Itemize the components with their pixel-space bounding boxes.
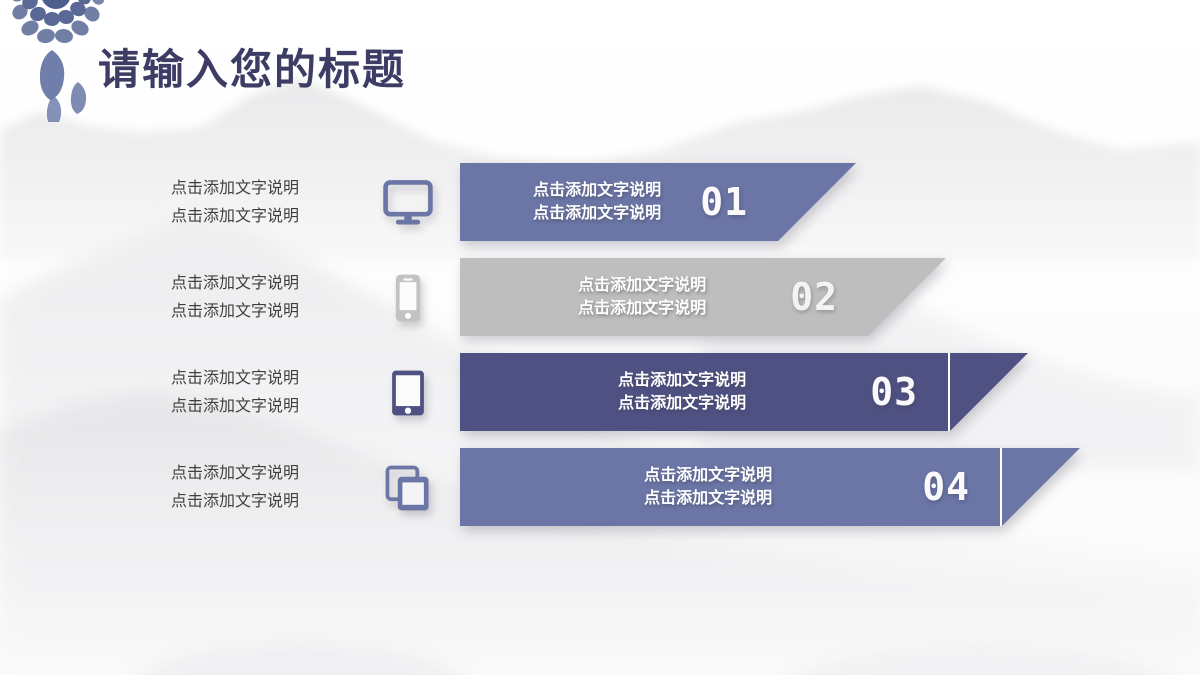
banner-line: 点击添加文字说明	[508, 202, 686, 225]
banner-tail-divider	[948, 353, 950, 431]
row-left-line: 点击添加文字说明	[120, 365, 350, 393]
banner-text: 点击添加文字说明 点击添加文字说明	[460, 464, 908, 510]
row-left-line: 点击添加文字说明	[120, 175, 350, 203]
banner-number: 02	[776, 275, 868, 319]
banner-number: 04	[908, 465, 1000, 509]
banner-text: 点击添加文字说明 点击添加文字说明	[460, 179, 686, 225]
banner-tail	[868, 258, 946, 336]
banner-tail	[1002, 448, 1080, 526]
row-left-line: 点击添加文字说明	[120, 298, 350, 326]
banner-line: 点击添加文字说明	[508, 274, 776, 297]
banner-body: 点击添加文字说明 点击添加文字说明 02	[460, 258, 868, 336]
tablet-icon[interactable]	[378, 363, 438, 423]
page-title: 请输入您的标题	[98, 36, 406, 97]
banner-line: 点击添加文字说明	[508, 464, 908, 487]
banner-body: 点击添加文字说明 点击添加文字说明 01	[460, 163, 778, 241]
desktop-monitor-icon[interactable]	[378, 173, 438, 233]
row-left-line: 点击添加文字说明	[120, 203, 350, 231]
banner-line: 点击添加文字说明	[508, 392, 856, 415]
info-row[interactable]: 点击添加文字说明 点击添加文字说明 点击添加文字说明 点击添加文字说明	[0, 440, 1200, 535]
slide-canvas: 请输入您的标题 点击添加文字说明 点击添加文字说明 点击添加文字说明	[0, 0, 1200, 675]
info-row[interactable]: 点击添加文字说明 点击添加文字说明 点击添加文字说明 点击添加文字说明	[0, 345, 1200, 440]
banner-tail	[778, 163, 856, 241]
banner-line: 点击添加文字说明	[508, 487, 908, 510]
banner-text: 点击添加文字说明 点击添加文字说明	[460, 274, 776, 320]
row-left-line: 点击添加文字说明	[120, 460, 350, 488]
banner-line: 点击添加文字说明	[508, 179, 686, 202]
copy-layers-icon[interactable]	[378, 458, 438, 518]
banner-tail-divider	[1000, 448, 1002, 526]
info-rows: 点击添加文字说明 点击添加文字说明 点击添加文字说明 点击添加文字说明 01	[0, 155, 1200, 535]
banner-number: 01	[686, 180, 778, 224]
row-left-text: 点击添加文字说明 点击添加文字说明	[120, 365, 350, 421]
banner-line: 点击添加文字说明	[508, 369, 856, 392]
row-left-text: 点击添加文字说明 点击添加文字说明	[120, 460, 350, 516]
banner-line: 点击添加文字说明	[508, 297, 776, 320]
row-left-line: 点击添加文字说明	[120, 488, 350, 516]
banner-body: 点击添加文字说明 点击添加文字说明 03	[460, 353, 948, 431]
info-row[interactable]: 点击添加文字说明 点击添加文字说明 点击添加文字说明 点击添加文字说明	[0, 250, 1200, 345]
smartphone-icon[interactable]	[378, 268, 438, 328]
row-left-text: 点击添加文字说明 点击添加文字说明	[120, 175, 350, 231]
row-left-line: 点击添加文字说明	[120, 393, 350, 421]
row-left-text: 点击添加文字说明 点击添加文字说明	[120, 270, 350, 326]
info-row[interactable]: 点击添加文字说明 点击添加文字说明 点击添加文字说明 点击添加文字说明 01	[0, 155, 1200, 250]
banner-body: 点击添加文字说明 点击添加文字说明 04	[460, 448, 1000, 526]
banner-tail	[950, 353, 1028, 431]
banner-number: 03	[856, 370, 948, 414]
row-left-line: 点击添加文字说明	[120, 270, 350, 298]
banner-text: 点击添加文字说明 点击添加文字说明	[460, 369, 856, 415]
